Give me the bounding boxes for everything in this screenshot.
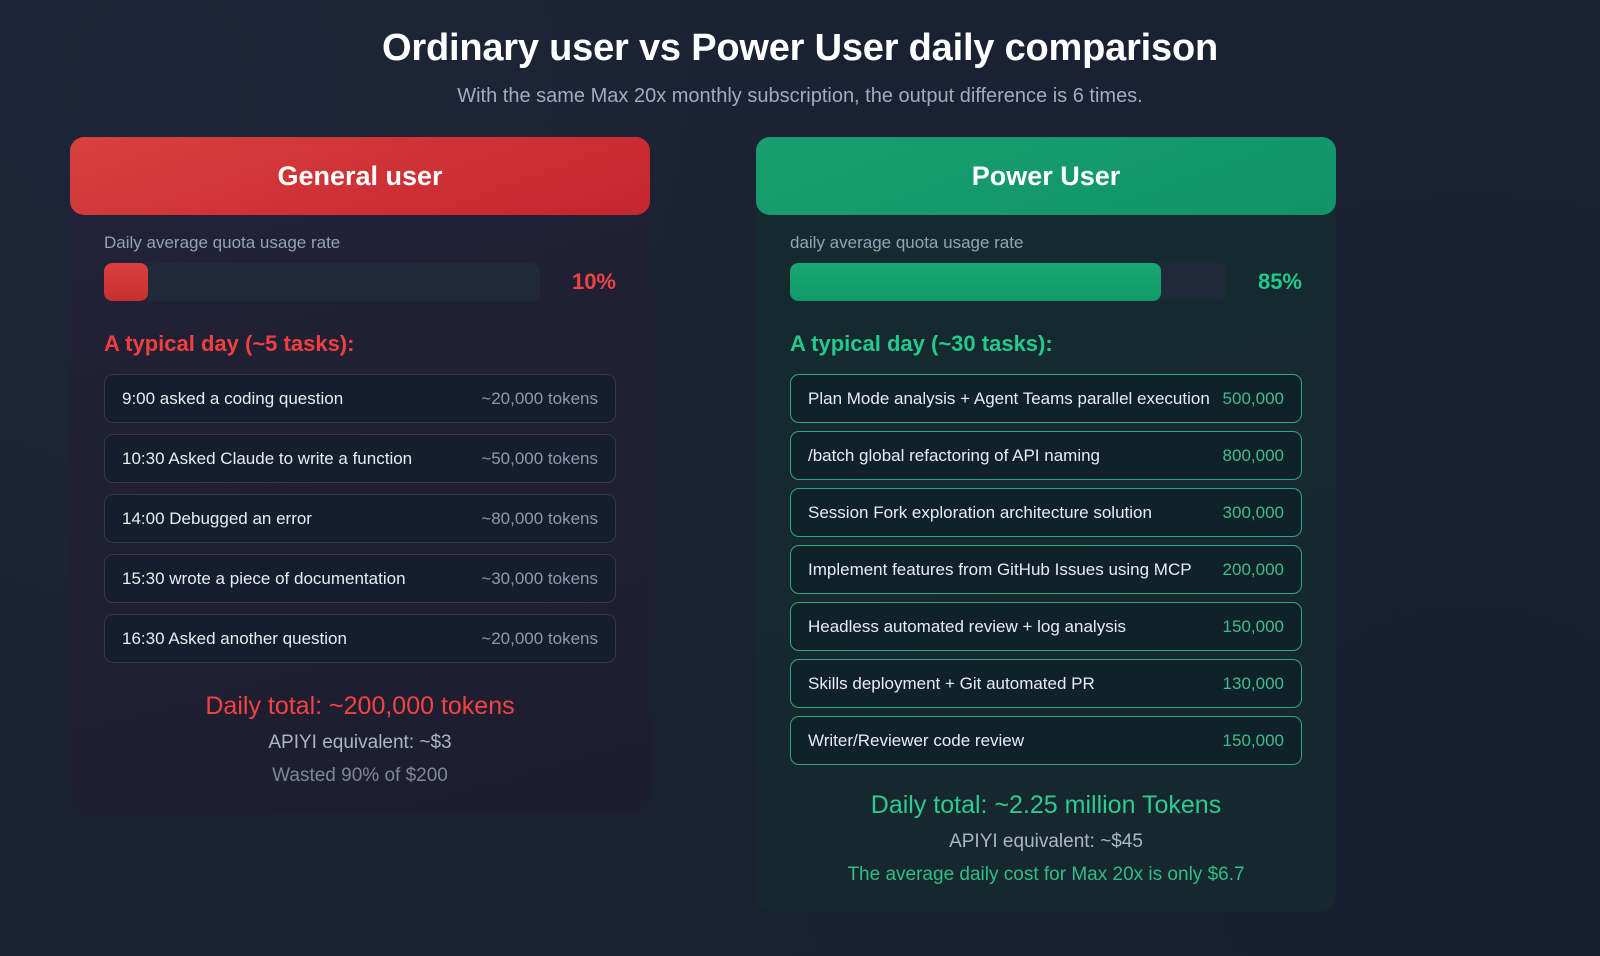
general-section-heading: A typical day (~5 tasks):: [104, 331, 616, 357]
task-item-label: Session Fork exploration architecture so…: [808, 503, 1152, 523]
task-item-tokens: 130,000: [1223, 674, 1284, 694]
general-card-footer: Daily total: ~200,000 tokens APIYI equiv…: [104, 692, 616, 787]
power-quota-percent: 85%: [1240, 269, 1302, 295]
task-item-label: Implement features from GitHub Issues us…: [808, 560, 1192, 580]
power-quota-progress-row: 85%: [790, 263, 1302, 301]
task-item: Skills deployment + Git automated PR130,…: [790, 659, 1302, 708]
task-item-tokens: 200,000: [1223, 560, 1284, 580]
general-quota-progress-row: 10%: [104, 263, 616, 301]
task-item-label: 15:30 wrote a piece of documentation: [122, 569, 406, 589]
general-daily-total: Daily total: ~200,000 tokens: [104, 692, 616, 721]
task-item: 16:30 Asked another question~20,000 toke…: [104, 614, 616, 663]
general-task-list: 9:00 asked a coding question~20,000 toke…: [104, 374, 616, 674]
task-item-tokens: ~20,000 tokens: [481, 389, 598, 409]
general-quota-percent: 10%: [554, 269, 616, 295]
comparison-columns: General user Daily average quota usage r…: [70, 137, 1530, 912]
task-item-label: Headless automated review + log analysis: [808, 617, 1126, 637]
task-item: 15:30 wrote a piece of documentation~30,…: [104, 554, 616, 603]
power-quota-progress-fill: [790, 263, 1161, 301]
power-user-card-body: daily average quota usage rate 85% A typ…: [756, 233, 1336, 886]
power-daily-total: Daily total: ~2.25 million Tokens: [790, 791, 1302, 820]
task-item: Implement features from GitHub Issues us…: [790, 545, 1302, 594]
task-item: Session Fork exploration architecture so…: [790, 488, 1302, 537]
general-waste-note: Wasted 90% of $200: [104, 765, 616, 787]
task-item: Headless automated review + log analysis…: [790, 602, 1302, 651]
task-item-tokens: 500,000: [1223, 389, 1284, 409]
task-item-tokens: ~20,000 tokens: [481, 629, 598, 649]
task-item-label: /batch global refactoring of API naming: [808, 446, 1100, 466]
task-item-tokens: ~80,000 tokens: [481, 509, 598, 529]
general-user-card-body: Daily average quota usage rate 10% A typ…: [70, 233, 650, 787]
general-quota-progress-track: [104, 263, 540, 301]
power-api-equivalent: APIYI equivalent: ~$45: [790, 831, 1302, 853]
task-item-tokens: 150,000: [1223, 617, 1284, 637]
task-item: 10:30 Asked Claude to write a function~5…: [104, 434, 616, 483]
power-user-card-header: Power User: [756, 137, 1336, 215]
task-item: /batch global refactoring of API naming8…: [790, 431, 1302, 480]
task-item-tokens: ~30,000 tokens: [481, 569, 598, 589]
general-user-card: General user Daily average quota usage r…: [70, 137, 650, 813]
task-item-label: Plan Mode analysis + Agent Teams paralle…: [808, 389, 1210, 409]
general-quota-progress-fill: [104, 263, 148, 301]
task-item: Writer/Reviewer code review150,000: [790, 716, 1302, 765]
task-item-label: 10:30 Asked Claude to write a function: [122, 449, 412, 469]
page-header: Ordinary user vs Power User daily compar…: [0, 0, 1600, 108]
task-item: 14:00 Debugged an error~80,000 tokens: [104, 494, 616, 543]
task-item: 9:00 asked a coding question~20,000 toke…: [104, 374, 616, 423]
power-user-card: Power User daily average quota usage rat…: [756, 137, 1336, 912]
task-item-label: 9:00 asked a coding question: [122, 389, 343, 409]
task-item-tokens: ~50,000 tokens: [481, 449, 598, 469]
power-cost-note: The average daily cost for Max 20x is on…: [790, 864, 1302, 886]
page-subtitle: With the same Max 20x monthly subscripti…: [0, 85, 1600, 108]
power-quota-progress-track: [790, 263, 1226, 301]
task-item: Plan Mode analysis + Agent Teams paralle…: [790, 374, 1302, 423]
task-item-label: Writer/Reviewer code review: [808, 731, 1024, 751]
power-section-heading: A typical day (~30 tasks):: [790, 331, 1302, 357]
power-card-footer: Daily total: ~2.25 million Tokens APIYI …: [790, 791, 1302, 886]
power-task-list: Plan Mode analysis + Agent Teams paralle…: [790, 374, 1302, 773]
task-item-label: 14:00 Debugged an error: [122, 509, 312, 529]
task-item-label: Skills deployment + Git automated PR: [808, 674, 1095, 694]
task-item-tokens: 300,000: [1223, 503, 1284, 523]
task-item-tokens: 800,000: [1223, 446, 1284, 466]
page-title: Ordinary user vs Power User daily compar…: [0, 25, 1600, 73]
comparison-page: Ordinary user vs Power User daily compar…: [0, 0, 1600, 956]
general-user-card-header: General user: [70, 137, 650, 215]
general-api-equivalent: APIYI equivalent: ~$3: [104, 732, 616, 754]
task-item-label: 16:30 Asked another question: [122, 629, 347, 649]
task-item-tokens: 150,000: [1223, 731, 1284, 751]
general-quota-label: Daily average quota usage rate: [104, 233, 616, 253]
power-quota-label: daily average quota usage rate: [790, 233, 1302, 253]
